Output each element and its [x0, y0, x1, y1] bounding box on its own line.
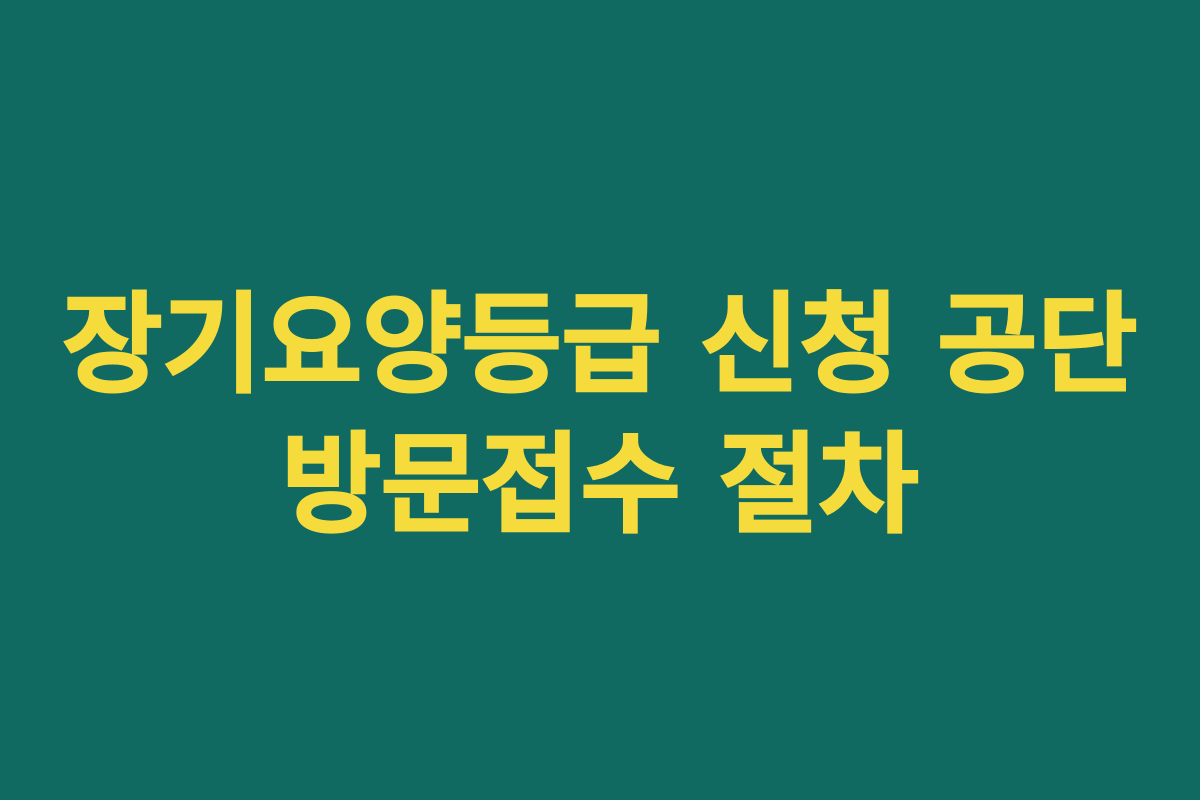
title-banner: 장기요양등급 신청 공단 방문접수 절차: [0, 0, 1200, 800]
headline-line-2: 방문접수 절차: [40, 416, 1160, 556]
headline-line-1: 장기요양등급 신청 공단: [40, 276, 1160, 416]
headline-block: 장기요양등급 신청 공단 방문접수 절차: [0, 276, 1200, 556]
